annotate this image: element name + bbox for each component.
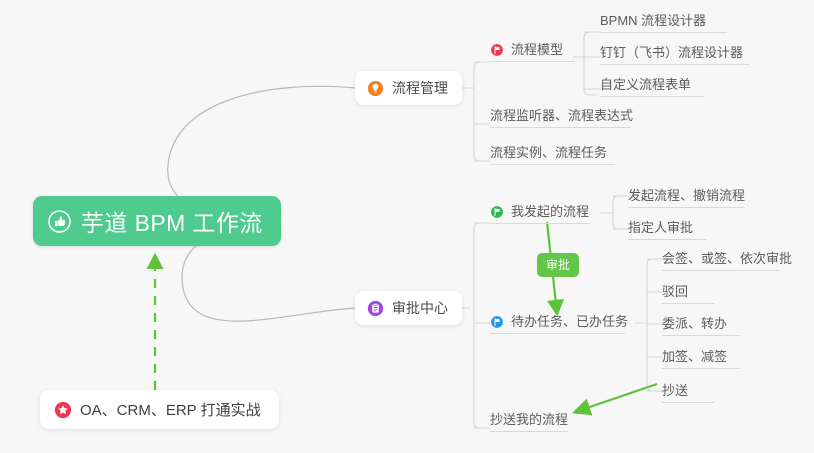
leaf-process-model[interactable]: 流程模型 — [490, 41, 574, 62]
leaf-start-cancel-process[interactable]: 发起流程、撤销流程 — [628, 187, 745, 208]
floating-node-oa-crm-erp[interactable]: OA、CRM、ERP 打通实战 — [40, 390, 279, 429]
leaf-add-remove-sign[interactable]: 加签、减签 — [662, 348, 740, 369]
leaf-custom-process-form[interactable]: 自定义流程表单 — [600, 76, 704, 97]
leaf-delegate-transfer[interactable]: 委派、转办 — [662, 315, 740, 336]
leaf-todo-done-tasks[interactable]: 待办任务、已办任务 — [490, 313, 625, 334]
leaf-assignee-approval[interactable]: 指定人审批 — [628, 219, 706, 240]
flag-icon-red — [490, 43, 504, 57]
flag-icon-blue — [490, 315, 504, 329]
branch-node-process-management[interactable]: 流程管理 — [355, 71, 462, 105]
leaf-label: 我发起的流程 — [511, 203, 589, 220]
flag-icon-green — [490, 205, 504, 219]
edge-pm-spine — [474, 62, 486, 161]
clipboard-icon — [367, 300, 384, 317]
edge-todo-spine — [647, 259, 659, 391]
lightbulb-icon — [367, 80, 384, 97]
root-node[interactable]: 芋道 BPM 工作流 — [33, 196, 281, 246]
annotation-cc-arrow — [575, 384, 657, 412]
leaf-label: 待办任务、已办任务 — [511, 313, 628, 330]
branch-label: 审批中心 — [392, 298, 448, 318]
leaf-label: 流程模型 — [511, 41, 563, 58]
leaf-cc[interactable]: 抄送 — [662, 382, 714, 403]
thumbs-up-icon — [48, 210, 71, 233]
approval-badge[interactable]: 审批 — [537, 253, 579, 277]
leaf-process-instance-task[interactable]: 流程实例、流程任务 — [490, 144, 615, 165]
floating-node-label: OA、CRM、ERP 打通实战 — [80, 399, 261, 420]
leaf-my-started-processes[interactable]: 我发起的流程 — [490, 203, 590, 224]
leaf-reject[interactable]: 驳回 — [662, 283, 714, 304]
edge-ac-spine — [474, 223, 486, 428]
leaf-process-listener-expression[interactable]: 流程监听器、流程表达式 — [490, 107, 631, 128]
leaf-bpmn-designer[interactable]: BPMN 流程设计器 — [600, 12, 727, 33]
star-icon — [54, 401, 72, 419]
leaf-dingtalk-feishu-designer[interactable]: 钉钉（飞书）流程设计器 — [600, 44, 750, 65]
branch-label: 流程管理 — [392, 78, 448, 98]
edge-pm-model-spine — [584, 32, 596, 95]
edge-started-spine — [613, 196, 625, 229]
leaf-cc-to-me-processes[interactable]: 抄送我的流程 — [490, 411, 568, 432]
root-label: 芋道 BPM 工作流 — [81, 204, 263, 238]
branch-node-approval-center[interactable]: 审批中心 — [355, 291, 462, 325]
mindmap-canvas: 芋道 BPM 工作流 流程管理 审批中心 — [0, 0, 814, 453]
leaf-countersign-orsign-sequential[interactable]: 会签、或签、依次审批 — [662, 250, 779, 271]
